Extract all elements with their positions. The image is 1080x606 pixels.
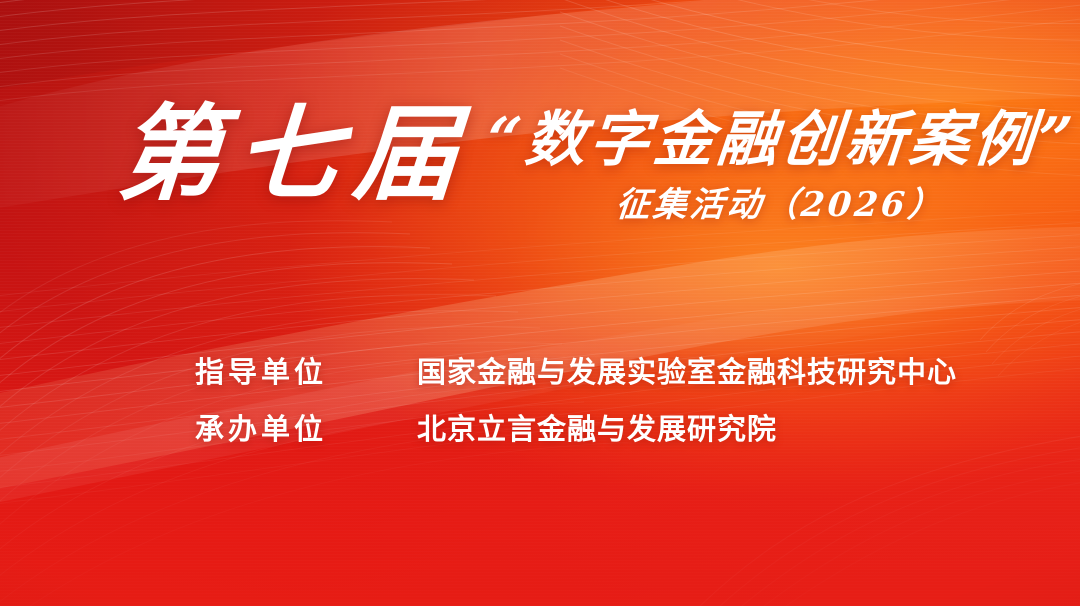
credit-row: 承办单位 北京立言金融与发展研究院 — [0, 413, 1080, 455]
headline-subtitle: 征集活动（2026） — [615, 188, 947, 222]
credit-value-guidance: 国家金融与发展实验室金融科技研究中心 — [417, 356, 957, 388]
credit-value-organizer: 北京立言金融与发展研究院 — [417, 413, 777, 445]
credit-row: 指导单位 国家金融与发展实验室金融科技研究中心 — [0, 356, 1080, 398]
credit-label-organizer: 承办单位 — [195, 413, 327, 445]
credit-label-guidance: 指导单位 — [195, 356, 327, 388]
headline-ordinal: 第七届 — [114, 102, 475, 206]
event-poster: 第七届 “数字金融创新案例” 征集活动（2026） 指导单位 国家金融与发展实验… — [0, 0, 1080, 606]
poster-content: 第七届 “数字金融创新案例” 征集活动（2026） 指导单位 国家金融与发展实验… — [0, 0, 1080, 606]
headline-block: 第七届 “数字金融创新案例” 征集活动（2026） — [0, 96, 1080, 256]
headline-quoted-theme: “数字金融创新案例” — [484, 110, 1078, 170]
